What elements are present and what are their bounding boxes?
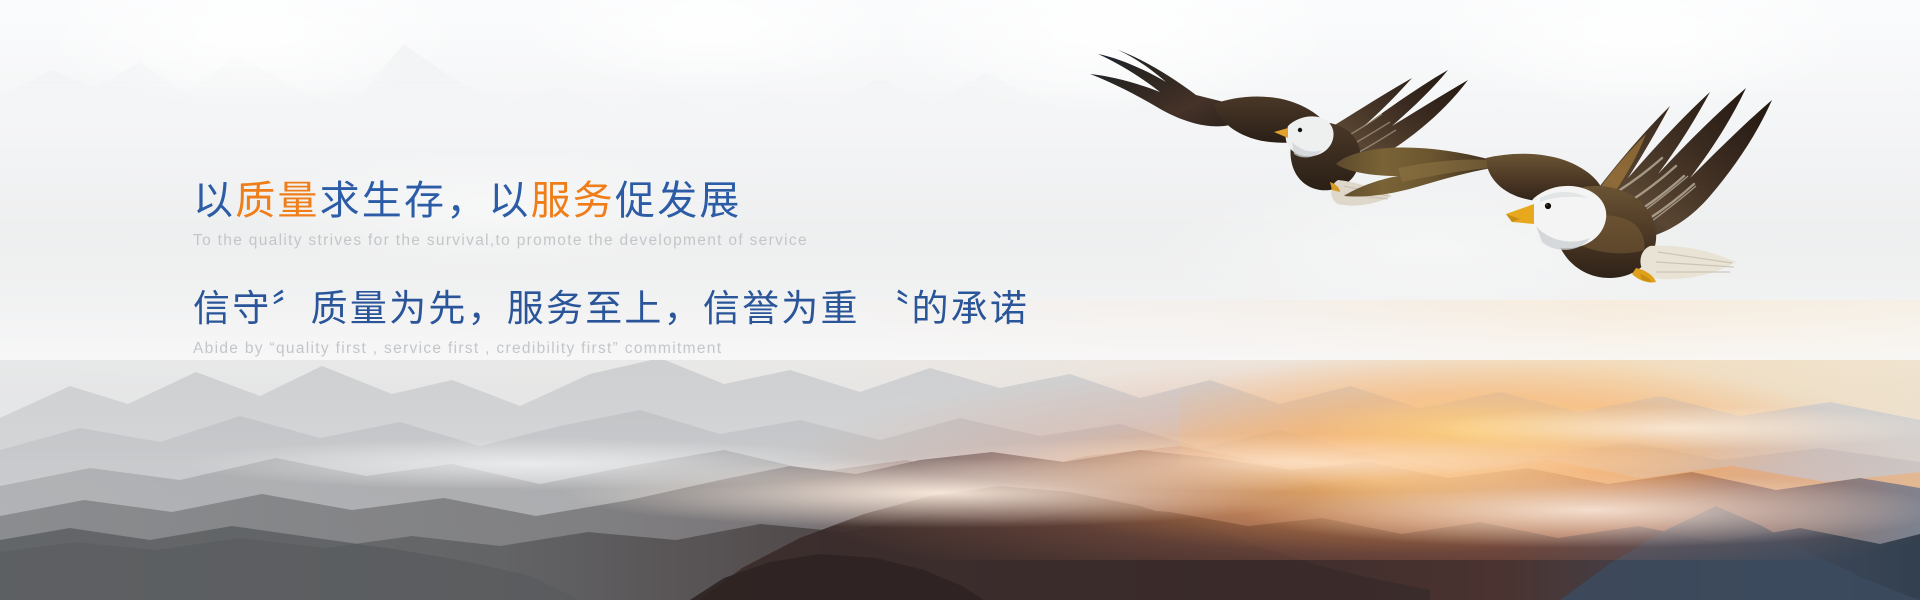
slogan-two-subtitle: Abide by “quality first , service first … (193, 340, 1193, 358)
slogan-block: 以质量求生存，以服务促发展 To the quality strives for… (193, 176, 1193, 358)
slogan-two-headline: 信守〞质量为先，服务至上，信誉为重 〝的承诺 (193, 285, 1193, 333)
hero-banner: 以质量求生存，以服务促发展 To the quality strives for… (0, 0, 1920, 600)
slogan-one-seg-2: 求生存，以 (320, 179, 531, 223)
slogan-one-subtitle: To the quality strives for the survival,… (193, 232, 1193, 250)
slogan-one-seg-4: 促发展 (615, 179, 742, 223)
slogan-one-seg-1: 质量 (235, 179, 319, 223)
ink-wash-peaks (0, 0, 1920, 120)
slogan-one-seg-3: 服务 (531, 179, 615, 223)
slogan-one-seg-0: 以 (193, 179, 235, 223)
slogan-one-headline: 以质量求生存，以服务促发展 (193, 176, 1193, 227)
